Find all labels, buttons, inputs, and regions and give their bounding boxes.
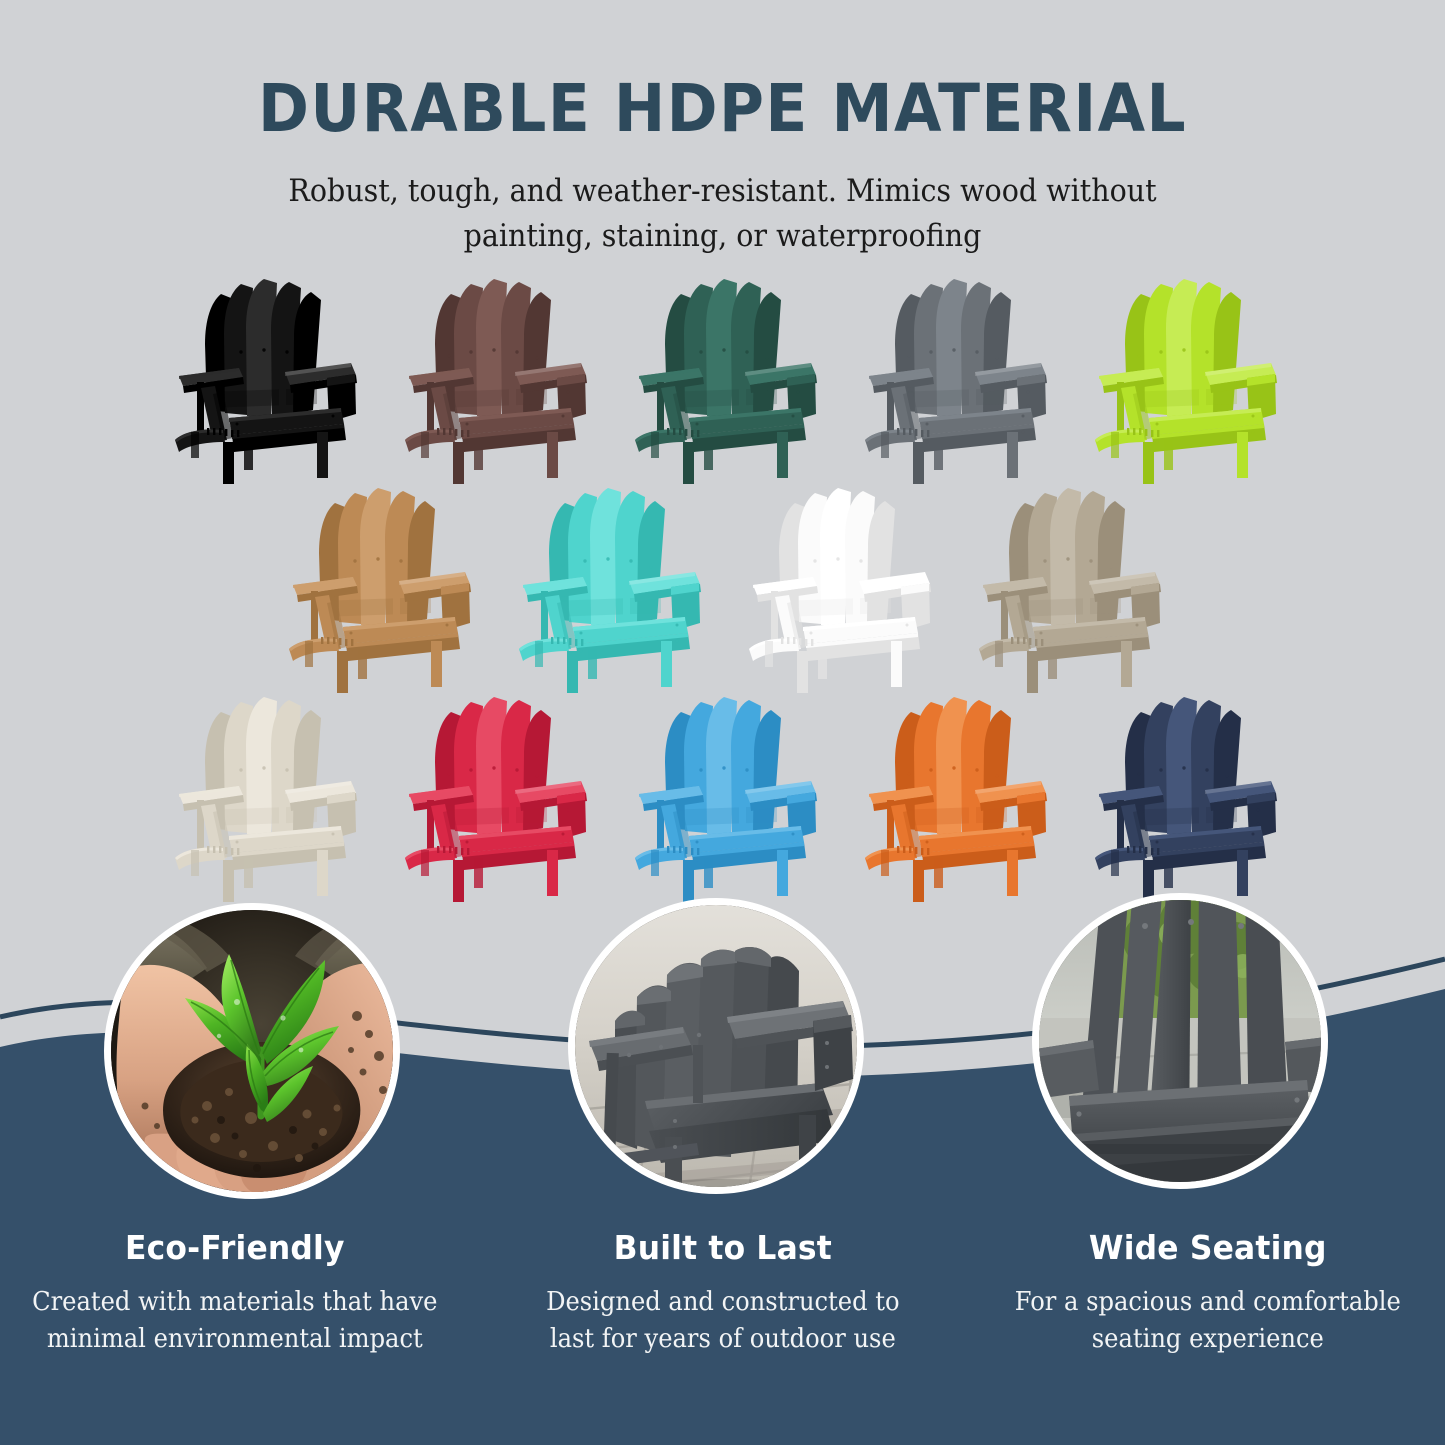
chair-graphic [397,690,592,905]
chair-graphic [627,272,822,487]
chair-row-3 [4,690,1445,905]
chair-light-blue[interactable] [627,690,822,905]
chair-dark-green[interactable] [627,272,822,487]
hands-holding-soil-and-seedling-icon [111,910,393,1192]
chair-graphic [511,481,706,696]
closeup-gray-chair-back-and-seat-icon [1039,900,1321,1182]
chair-red[interactable] [397,690,592,905]
feature-description: Designed and constructed to last for yea… [515,1284,929,1358]
feature-title: Wide Seating [1000,1228,1416,1267]
chair-greige[interactable] [971,481,1166,696]
chair-graphic [627,690,822,905]
chair-ivory[interactable] [167,690,362,905]
feature-desc-line-2: minimal environmental impact [22,1321,448,1358]
page-subtitle: Robust, tough, and weather-resistant. Mi… [58,169,1387,259]
chair-graphic [397,272,592,487]
infographic-page: DURABLE HDPE MATERIAL Robust, tough, and… [0,0,1445,1445]
feature-desc-line-2: last for years of outdoor use [515,1321,929,1358]
feature-title: Eco-Friendly [17,1228,452,1267]
chair-graphic [857,690,1052,905]
subtitle-line-1: Robust, tough, and weather-resistant. Mi… [58,169,1387,214]
subtitle-line-2: painting, staining, or waterproofing [58,214,1387,259]
chair-graphic [857,272,1052,487]
photo-circle-eco-friendly [104,903,400,1199]
chair-orange[interactable] [857,690,1052,905]
chair-graphic [971,481,1166,696]
chair-graphic [1087,690,1282,905]
chair-brown[interactable] [397,272,592,487]
page-title: DURABLE HDPE MATERIAL [51,74,1395,143]
feature-desc-line-1: For a spacious and comfortable [1005,1284,1412,1321]
chair-lime[interactable] [1087,272,1282,487]
feature-description: For a spacious and comfortable seating e… [1005,1284,1412,1358]
gray-adirondack-chair-on-patio-icon [575,905,857,1187]
chair-color-grid [0,272,1445,905]
chair-turquoise[interactable] [511,481,706,696]
feature-description: Created with materials that have minimal… [22,1284,448,1358]
photo-circle-built-to-last [568,898,864,1194]
chair-graphic [281,481,476,696]
chair-row-1 [4,272,1445,487]
feature-wide-seating: Wide Seating For a spacious and comforta… [963,1228,1445,1358]
feature-eco-friendly: Eco-Friendly Created with materials that… [0,1228,482,1358]
feature-desc-line-1: Created with materials that have [22,1284,448,1321]
features-row: Eco-Friendly Created with materials that… [0,1228,1445,1358]
chair-gray[interactable] [857,272,1052,487]
header-block: DURABLE HDPE MATERIAL Robust, tough, and… [0,0,1445,259]
chair-teak[interactable] [281,481,476,696]
chair-graphic [167,272,362,487]
chair-graphic [167,690,362,905]
feature-title: Built to Last [511,1228,934,1267]
chair-white[interactable] [741,481,936,696]
chair-graphic [1087,272,1282,487]
photo-circle-wide-seating [1032,893,1328,1189]
chair-navy[interactable] [1087,690,1282,905]
chair-row-2 [2,481,1445,696]
feature-built-to-last: Built to Last Designed and constructed t… [482,1228,964,1358]
chair-graphic [741,481,936,696]
chair-black[interactable] [167,272,362,487]
feature-desc-line-2: seating experience [1005,1321,1412,1358]
feature-desc-line-1: Designed and constructed to [515,1284,929,1321]
